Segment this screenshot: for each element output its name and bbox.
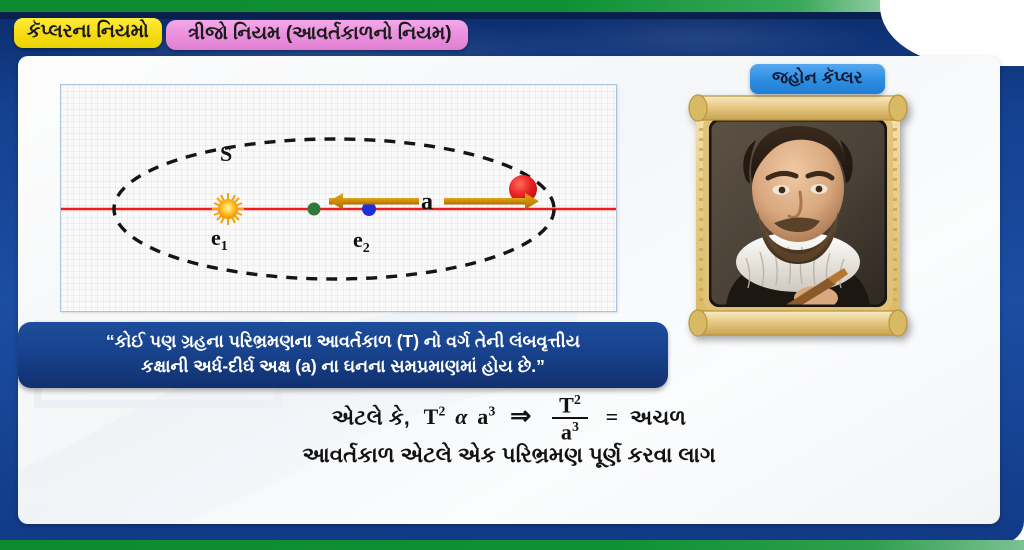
- kepler-name-badge: જહોન કૅપ્લર: [750, 64, 885, 94]
- fraction-numerator: T2: [552, 393, 588, 419]
- equation-prefix: એટલે કે,: [332, 406, 410, 429]
- equation-equals: =: [606, 404, 619, 429]
- equation-alpha: α: [455, 404, 467, 429]
- label-semi-major-axis: a: [421, 189, 433, 215]
- kepler-portrait-scroll: [688, 92, 908, 339]
- label-focus2: e2: [353, 227, 370, 256]
- equation-fraction: T2 a3: [552, 393, 588, 444]
- bottom-green-strip: [0, 540, 1024, 550]
- scroll-roll-top: [689, 95, 907, 121]
- fraction-denominator: a3: [552, 419, 588, 443]
- semi-major-axis-arrow: [329, 193, 539, 210]
- law-statement-box: “કોઈ પણ ગ્રહના પરિભ્રમણના આવર્તકાળ (T) ન…: [18, 322, 668, 388]
- kepler-portrait-image: [710, 120, 886, 311]
- orbit-diagram: S e1 e2 a: [61, 85, 616, 311]
- ellipse-center-dot: [308, 203, 321, 216]
- scroll-roll-bottom: [689, 310, 907, 336]
- equation-constant-word: અચળ: [630, 406, 686, 429]
- orbit-diagram-panel: S e1 e2 a: [60, 84, 617, 312]
- slide-root: S e1 e2 a “કોઈ પણ ગ્રહના પરિભ્રમણના આવર્…: [0, 0, 1024, 550]
- law-statement-line1: “કોઈ પણ ગ્રહના પરિભ્રમણના આવર્તકાળ (T) ન…: [34, 329, 652, 354]
- lesson-title-badge: ત્રીજો નિયમ (આવર્તકાળનો નિયમ): [166, 20, 468, 50]
- label-sun: S: [220, 141, 232, 166]
- equation-implies: ⇒: [510, 403, 531, 430]
- sun-marker: [212, 193, 244, 225]
- equation-T-squared: T2: [424, 404, 452, 429]
- law-statement-line2: કક્ષાની અર્ધ-દીર્ઘ અક્ષ (a) ના ઘનના સમપ્…: [34, 354, 652, 379]
- top-green-strip: [0, 0, 1024, 12]
- equation-note: આવર્તકાળ એટલે એક પરિભ્રમણ પૂર્ણ કરવા લાગ: [18, 443, 1000, 468]
- label-focus1: e1: [211, 225, 228, 254]
- equation-a-cubed: a3: [477, 404, 501, 429]
- chapter-badge: કૅપ્લરના નિયમો: [14, 18, 162, 48]
- equation-line: એટલે કે, T2 α a3 ⇒ T2 a3 = અચળ: [18, 394, 1000, 445]
